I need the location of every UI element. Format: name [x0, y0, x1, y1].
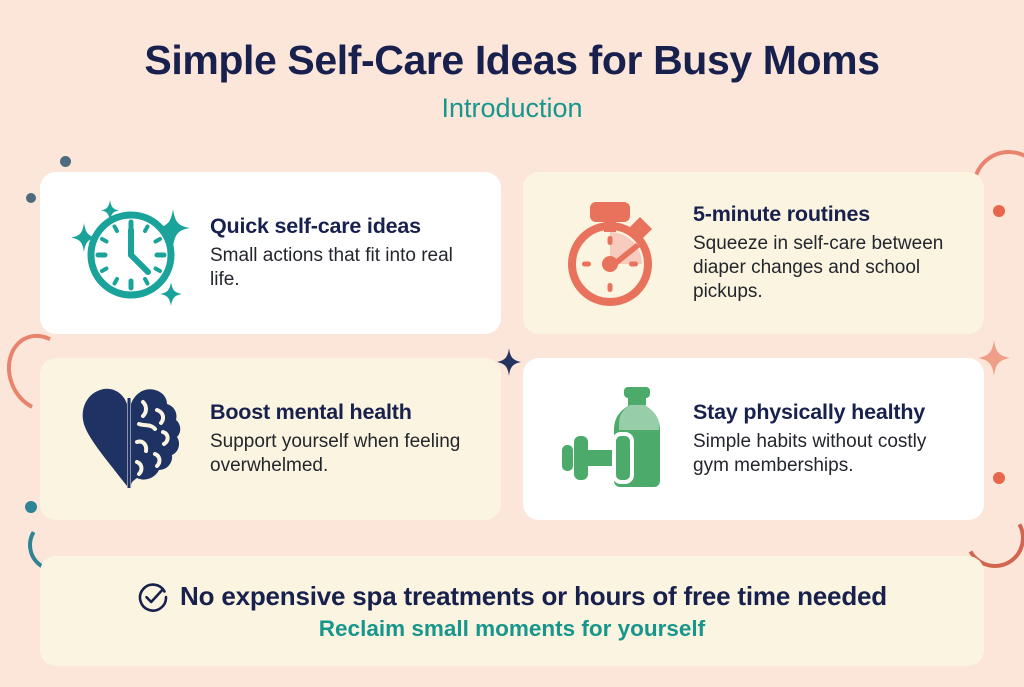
banner-main-text: No expensive spa treatments or hours of … — [180, 582, 887, 612]
infographic-page: Simple Self-Care Ideas for Busy Moms Int… — [0, 0, 1024, 687]
slate-dot-top-left-icon — [60, 156, 71, 167]
coral-dot-mid-right-icon — [993, 472, 1005, 484]
card-title: Stay physically healthy — [693, 400, 966, 425]
card-text: 5-minute routines Squeeze in self-care b… — [693, 202, 966, 303]
card-description: Small actions that fit into real life. — [210, 244, 483, 292]
page-title: Simple Self-Care Ideas for Busy Moms — [0, 38, 1024, 84]
teal-dot-lower-left-icon — [25, 501, 37, 513]
cards-grid: Quick self-care ideas Small actions that… — [40, 172, 984, 520]
clock-sparkle-icon — [66, 193, 194, 313]
card-description: Simple habits without costly gym members… — [693, 430, 966, 478]
banner-headline-row: No expensive spa treatments or hours of … — [137, 581, 887, 613]
card-boost-mental-health[interactable]: Boost mental health Support yourself whe… — [40, 358, 501, 520]
card-text: Quick self-care ideas Small actions that… — [210, 214, 483, 291]
page-subtitle: Introduction — [0, 94, 1024, 124]
bottom-banner: No expensive spa treatments or hours of … — [40, 556, 984, 666]
card-5-minute-routines[interactable]: 5-minute routines Squeeze in self-care b… — [523, 172, 984, 334]
slate-dot-upper-left-icon — [26, 193, 36, 203]
card-title: Boost mental health — [210, 400, 483, 425]
check-circle-icon — [137, 581, 169, 613]
coral-dot-right-icon — [993, 205, 1005, 217]
stopwatch-icon — [549, 193, 677, 313]
banner-sub-text: Reclaim small moments for yourself — [319, 616, 705, 642]
card-title: 5-minute routines — [693, 202, 966, 227]
heart-brain-icon — [66, 379, 194, 499]
card-quick-self-care-ideas[interactable]: Quick self-care ideas Small actions that… — [40, 172, 501, 334]
card-stay-physically-healthy[interactable]: Stay physically healthy Simple habits wi… — [523, 358, 984, 520]
card-title: Quick self-care ideas — [210, 214, 483, 239]
card-text: Boost mental health Support yourself whe… — [210, 400, 483, 477]
card-description: Squeeze in self-care between diaper chan… — [693, 232, 966, 304]
card-description: Support yourself when feeling overwhelme… — [210, 430, 483, 478]
card-text: Stay physically healthy Simple habits wi… — [693, 400, 966, 477]
dumbbell-bottle-icon — [549, 379, 677, 499]
header: Simple Self-Care Ideas for Busy Moms Int… — [0, 0, 1024, 124]
